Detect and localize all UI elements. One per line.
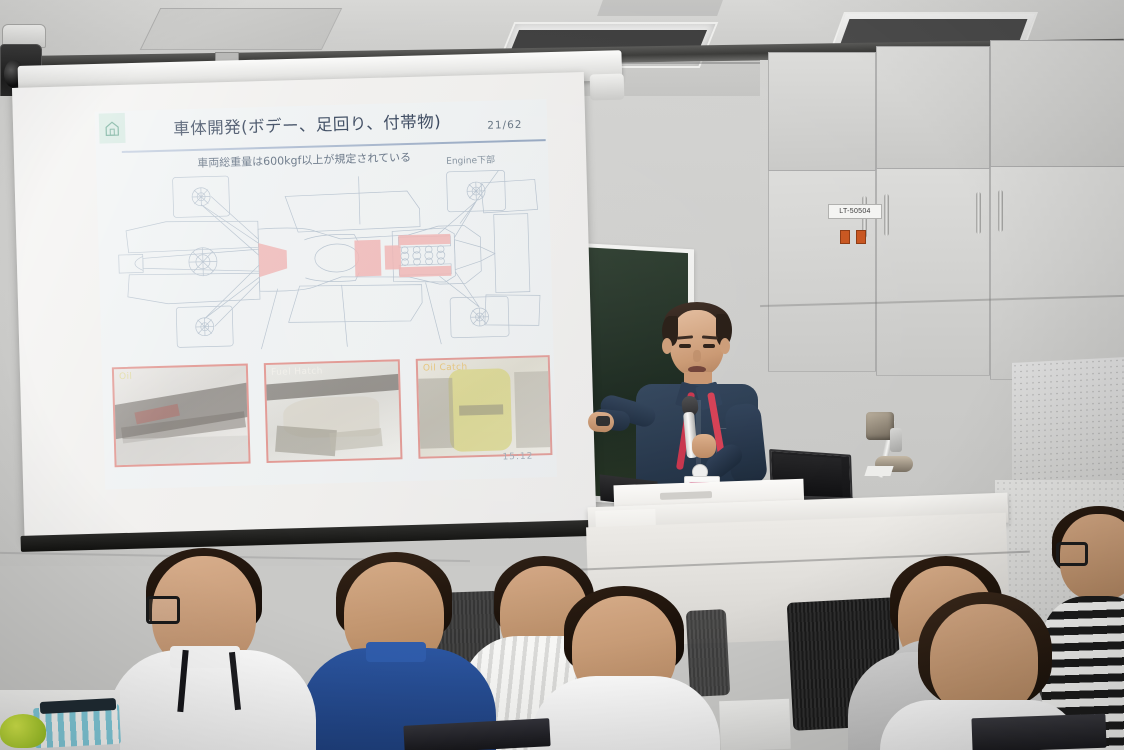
presenter-ear	[720, 338, 730, 354]
speaker-bracket	[890, 428, 902, 452]
slide-thumbnail-oil-left: Oil	[112, 364, 251, 468]
screen-roller-cap	[590, 74, 625, 101]
audience-laptop[interactable]	[971, 714, 1106, 750]
room-id-label: LT-50504	[839, 208, 870, 215]
cabinet-handle[interactable]	[976, 192, 981, 234]
presentation-slide: 車体開発(ボデー、足回り、付帯物) 21/62 車両総重量は600kgf以上が規…	[95, 99, 557, 489]
slide-title: 車体開発(ボデー、足回り、付帯物)	[157, 108, 458, 140]
glasses-icon	[146, 596, 180, 624]
indicator-led	[856, 230, 866, 244]
audience-chair[interactable]	[686, 609, 730, 697]
acoustic-panel	[1012, 357, 1124, 493]
presenter-eye	[679, 344, 691, 348]
desk-surface	[719, 699, 791, 750]
audience-white-shirt-center	[530, 676, 720, 750]
wall-cabinet[interactable]	[876, 168, 990, 376]
presenter-ear	[662, 338, 672, 354]
presenter-nose	[693, 350, 701, 362]
green-item	[0, 714, 46, 748]
glasses-icon	[1056, 542, 1088, 566]
wall-cabinet[interactable]	[990, 166, 1124, 380]
speaker-base	[864, 466, 893, 476]
thumbnail-label: Oil	[119, 372, 133, 382]
cabinet-handle[interactable]	[884, 194, 889, 236]
ceiling-panel	[140, 8, 342, 50]
projection-screen[interactable]: 車体開発(ボデー、足回り、付帯物) 21/62 車両総重量は600kgf以上が規…	[12, 72, 596, 540]
cabinet-handle[interactable]	[998, 190, 1003, 232]
wall-cabinet[interactable]	[990, 40, 1124, 168]
car-technical-drawing	[106, 161, 547, 355]
wall-cabinet[interactable]	[768, 52, 876, 172]
presentation-clicker[interactable]	[596, 416, 610, 426]
polo-collar	[366, 642, 426, 662]
slide-thumbnail-fuel-hatch: Fuel Hatch	[264, 359, 403, 463]
ceiling-vent-icon	[597, 0, 723, 16]
slide-thumbnail-oil-catch: Oil Catch	[416, 355, 553, 459]
presenter-eye	[703, 344, 715, 348]
presenter-right-hand	[692, 434, 716, 458]
indicator-led	[840, 230, 850, 244]
thumbnail-label: Fuel Hatch	[271, 366, 323, 377]
wall-cabinet[interactable]	[876, 46, 990, 170]
house-logo-icon	[99, 113, 126, 144]
lecture-hall-scene: LT-50504 車体開発(ボデー、足回り、付帯物) 21/62 車両総重量は6…	[0, 0, 1124, 750]
room-id-sign: LT-50504	[828, 204, 882, 219]
slide-timestamp: 15:12	[502, 452, 533, 463]
slide-page-number: 21/62	[487, 119, 523, 132]
